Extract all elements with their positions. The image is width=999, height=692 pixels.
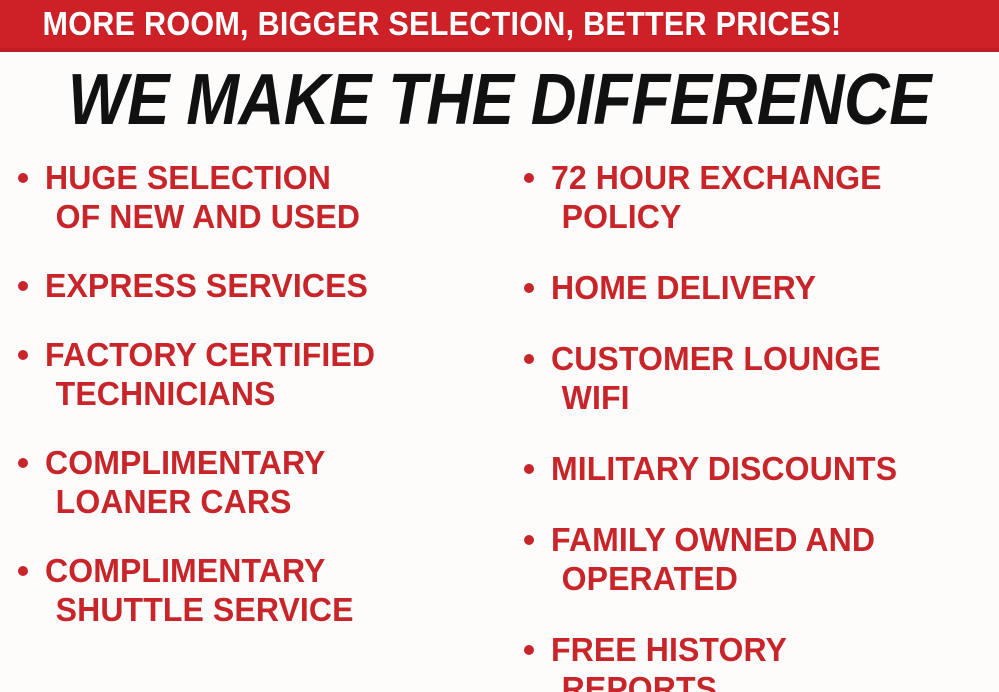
list-item-text: 72 HOUR EXCHANGE POLICY [551, 158, 882, 236]
list-item-line1: FACTORY CERTIFIED [45, 336, 375, 373]
bullet-dot-icon [18, 458, 28, 468]
list-item: EXPRESS SERVICES [18, 266, 506, 305]
list-item-text: FACTORY CERTIFIED TECHNICIANS [45, 335, 375, 413]
list-item-text: HUGE SELECTION OF NEW AND USED [45, 158, 360, 236]
list-item: COMPLIMENTARY SHUTTLE SERVICE [18, 551, 506, 629]
list-item: COMPLIMENTARY LOANER CARS [18, 443, 506, 521]
bullet-dot-icon [524, 645, 534, 655]
list-item-line2: OPERATED [551, 559, 875, 598]
bullet-dot-icon [524, 535, 534, 545]
list-item-text: HOME DELIVERY [551, 268, 816, 307]
list-item-text: CUSTOMER LOUNGE WIFI [551, 339, 881, 417]
bullet-dot-icon [524, 283, 534, 293]
list-item-line1: CUSTOMER LOUNGE [551, 340, 881, 377]
list-item: FACTORY CERTIFIED TECHNICIANS [18, 335, 506, 413]
bullet-dot-icon [524, 464, 534, 474]
list-item: HUGE SELECTION OF NEW AND USED [18, 158, 506, 236]
list-item-line2: OF NEW AND USED [45, 197, 360, 236]
list-item: FREE HISTORY REPORTS [524, 630, 999, 692]
list-item-line1: MILITARY DISCOUNTS [551, 450, 897, 487]
list-item-line1: FREE HISTORY [551, 631, 787, 668]
list-item: MILITARY DISCOUNTS [524, 449, 999, 488]
list-item-text: FREE HISTORY REPORTS [551, 630, 787, 692]
list-item-line2: REPORTS [551, 669, 787, 692]
page-title: WE MAKE THE DIFFERENCE [60, 63, 939, 137]
top-banner-text: MORE ROOM, BIGGER SELECTION, BETTER PRIC… [0, 7, 841, 41]
promo-poster: MORE ROOM, BIGGER SELECTION, BETTER PRIC… [0, 0, 999, 692]
list-item-line1: COMPLIMENTARY [45, 444, 325, 481]
bullet-dot-icon [18, 281, 28, 291]
list-item-line2: WIFI [551, 378, 881, 417]
list-item-text: COMPLIMENTARY SHUTTLE SERVICE [45, 551, 354, 629]
bullet-dot-icon [18, 173, 28, 183]
list-item-line1: FAMILY OWNED AND [551, 521, 875, 558]
list-item-line1: HOME DELIVERY [551, 269, 816, 306]
list-item-line2: LOANER CARS [45, 482, 325, 521]
list-item-text: EXPRESS SERVICES [45, 266, 368, 305]
benefits-column-left: HUGE SELECTION OF NEW AND USED EXPRESS S… [0, 158, 506, 659]
list-item: FAMILY OWNED AND OPERATED [524, 520, 999, 598]
bullet-dot-icon [524, 173, 534, 183]
list-item-line2: SHUTTLE SERVICE [45, 590, 354, 629]
list-item: 72 HOUR EXCHANGE POLICY [524, 158, 999, 236]
list-item-line1: COMPLIMENTARY [45, 552, 325, 589]
list-item-line1: EXPRESS SERVICES [45, 267, 368, 304]
list-item-line2: POLICY [551, 197, 882, 236]
list-item-line1: HUGE SELECTION [45, 159, 331, 196]
list-item-line1: 72 HOUR EXCHANGE [551, 159, 882, 196]
benefits-column-right: 72 HOUR EXCHANGE POLICY HOME DELIVERY CU… [506, 158, 999, 692]
list-item-text: MILITARY DISCOUNTS [551, 449, 897, 488]
bullet-dot-icon [18, 350, 28, 360]
list-item: HOME DELIVERY [524, 268, 999, 307]
list-item: CUSTOMER LOUNGE WIFI [524, 339, 999, 417]
benefits-columns: HUGE SELECTION OF NEW AND USED EXPRESS S… [0, 158, 999, 692]
bullet-dot-icon [18, 566, 28, 576]
bullet-dot-icon [524, 354, 534, 364]
list-item-text: FAMILY OWNED AND OPERATED [551, 520, 875, 598]
list-item-text: COMPLIMENTARY LOANER CARS [45, 443, 325, 521]
list-item-line2: TECHNICIANS [45, 374, 375, 413]
top-banner: MORE ROOM, BIGGER SELECTION, BETTER PRIC… [0, 0, 999, 52]
